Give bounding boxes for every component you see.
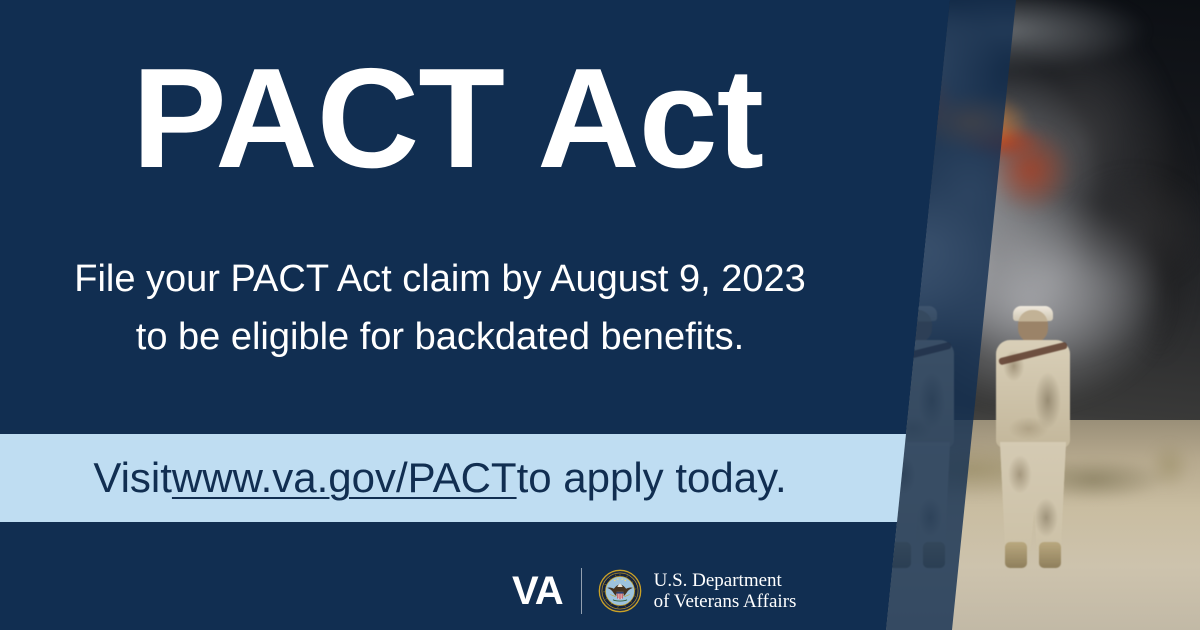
va-logo: VA [512,562,796,620]
va-department-name: U.S. Department of Veterans Affairs [654,570,797,612]
va-department-line-1: U.S. Department [654,570,797,591]
page-title: PACT Act [132,48,763,190]
subtitle-line-2: to be eligible for backdated benefits. [0,308,880,366]
va-department-line-2: of Veterans Affairs [654,591,797,612]
subtitle: File your PACT Act claim by August 9, 20… [0,250,880,366]
va-seal-icon [598,569,642,613]
logo-divider [581,568,582,614]
va-wordmark: VA [512,571,563,611]
callout-text: Visit www.va.gov/PACT to apply today. [0,434,880,522]
pact-act-banner: PACT Act File your PACT Act claim by Aug… [0,0,1200,630]
callout-prefix: Visit [93,454,172,502]
callout-suffix: to apply today. [517,454,787,502]
subtitle-line-1: File your PACT Act claim by August 9, 20… [0,250,880,308]
pact-url-link[interactable]: www.va.gov/PACT [172,454,517,502]
